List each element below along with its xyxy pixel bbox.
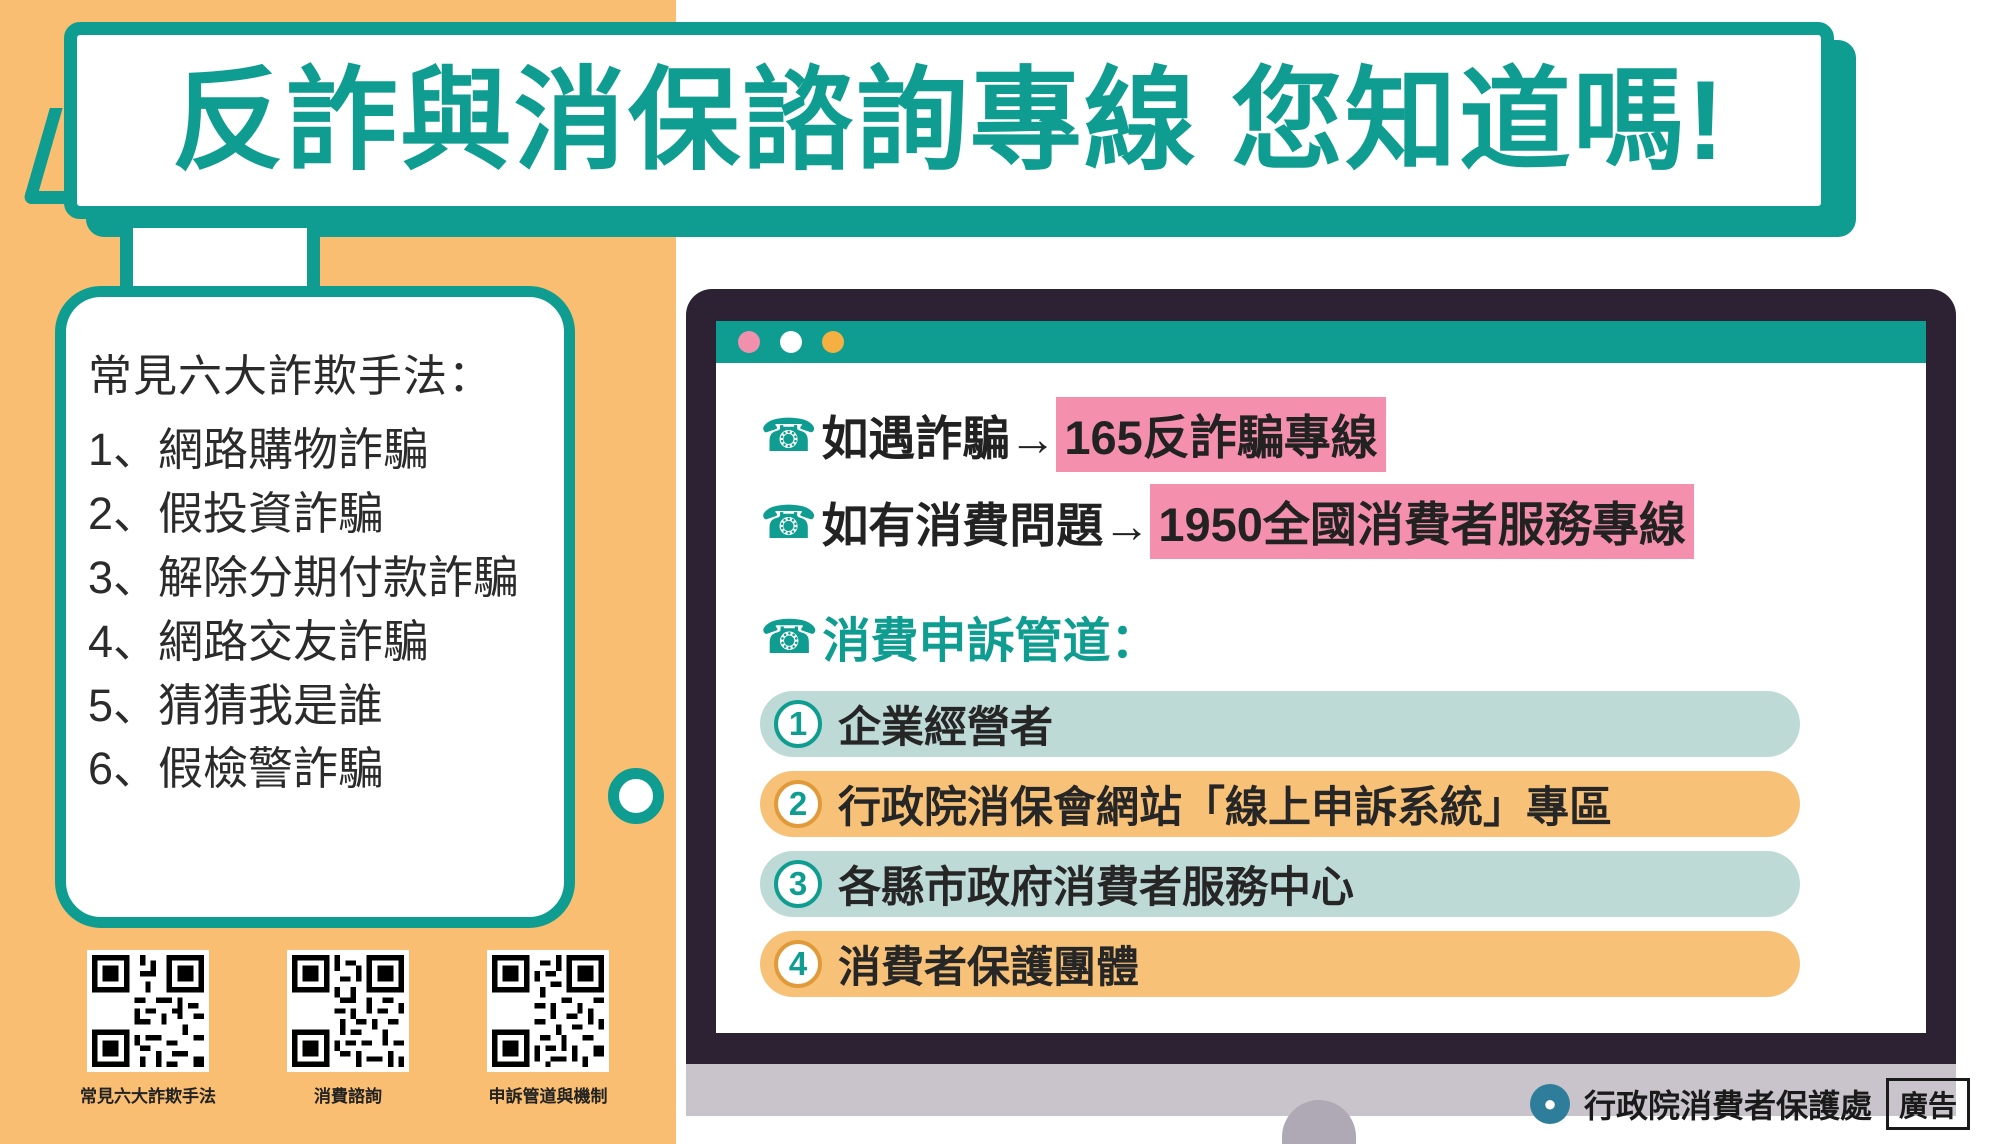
left-card-notch-inner <box>133 228 307 288</box>
fraud-methods-heading: 常見六大詐欺手法： <box>88 340 544 404</box>
browser-content: ☎ 如遇詐騙→ 165反詐騙專線 ☎ 如有消費問題→ 1950全國消費者服務專線… <box>716 363 1926 1033</box>
hotline-label-2: 如有消費問題→ <box>821 487 1150 556</box>
title-banner: 反詐與消保諮詢專線 您知道嗎! <box>64 22 1834 219</box>
fraud-method-item-3: 3、解除分期付款詐騙 <box>88 546 544 610</box>
qr-code-icon-3[interactable] <box>487 950 609 1072</box>
channel-number-3: 3 <box>774 860 822 908</box>
page-title: 反詐與消保諮詢專線 您知道嗎! <box>172 65 1726 177</box>
telephone-icon: ☎ <box>760 499 817 545</box>
fraud-method-item-2: 2、假投資詐騙 <box>88 482 544 546</box>
fraud-method-item-6: 6、假檢警詐騙 <box>88 737 544 801</box>
fraud-method-item-4: 4、網路交友詐騙 <box>88 610 544 674</box>
telephone-icon: ☎ <box>760 412 817 458</box>
footer: ● 行政院消費者保護處 廣告 <box>1530 1078 1970 1130</box>
qr-code-caption-1: 常見六大詐欺手法 <box>78 1082 218 1107</box>
agency-logo-icon: ● <box>1530 1084 1570 1124</box>
footer-ad-badge: 廣告 <box>1886 1078 1970 1130</box>
telephone-icon: ☎ <box>760 613 819 660</box>
channel-number-4: 4 <box>774 940 822 988</box>
qr-code-icon-1[interactable] <box>87 950 209 1072</box>
fraud-method-item-5: 5、猜猜我是誰 <box>88 674 544 738</box>
channel-row-3[interactable]: 3 各縣市政府消費者服務中心 <box>760 851 1800 917</box>
channel-label-2: 行政院消保會網站「線上申訴系統」專區 <box>838 773 1612 835</box>
channel-number-2: 2 <box>774 780 822 828</box>
connector-circle-large-icon <box>608 768 664 824</box>
hotline-row-1: ☎ 如遇詐騙→ 165反詐騙專線 <box>760 397 1886 472</box>
qr-code-block-2[interactable]: 消費諮詢 <box>278 950 418 1120</box>
channel-label-1: 企業經營者 <box>838 693 1053 755</box>
qr-code-block-3[interactable]: 申訴管道與機制 <box>478 950 618 1120</box>
browser-title-bar <box>716 321 1926 363</box>
qr-code-row: 常見六大詐欺手法 <box>78 950 678 1120</box>
channel-row-4[interactable]: 4 消費者保護團體 <box>760 931 1800 997</box>
channels-heading: ☎ 消費申訴管道： <box>760 601 1886 671</box>
footer-agency-name: 行政院消費者保護處 <box>1584 1081 1872 1127</box>
qr-code-caption-2: 消費諮詢 <box>278 1082 418 1107</box>
hotline-highlight-2: 1950全國消費者服務專線 <box>1150 484 1694 559</box>
channel-label-3: 各縣市政府消費者服務中心 <box>838 853 1354 915</box>
browser-minimize-dot-icon[interactable] <box>780 331 802 353</box>
browser-close-dot-icon[interactable] <box>738 331 760 353</box>
hotline-row-2: ☎ 如有消費問題→ 1950全國消費者服務專線 <box>760 484 1886 559</box>
channel-row-1[interactable]: 1 企業經營者 <box>760 691 1800 757</box>
channel-row-2[interactable]: 2 行政院消保會網站「線上申訴系統」專區 <box>760 771 1800 837</box>
fraud-methods-content: 常見六大詐欺手法： 1、網路購物詐騙 2、假投資詐騙 3、解除分期付款詐騙 4、… <box>74 330 544 890</box>
qr-code-block-1[interactable]: 常見六大詐欺手法 <box>78 950 218 1120</box>
qr-code-caption-3: 申訴管道與機制 <box>478 1082 618 1107</box>
hotline-highlight-1: 165反詐騙專線 <box>1056 397 1385 472</box>
browser-maximize-dot-icon[interactable] <box>822 331 844 353</box>
hotline-label-1: 如遇詐騙→ <box>821 400 1056 469</box>
poster-root: 反詐與消保諮詢專線 您知道嗎! 常見六大詐欺手法： 1、網路購物詐騙 2、假投資… <box>0 0 2000 1144</box>
channels-heading-text: 消費申訴管道： <box>823 601 1159 671</box>
channel-label-4: 消費者保護團體 <box>838 933 1139 995</box>
fraud-method-item-1: 1、網路購物詐騙 <box>88 418 544 482</box>
qr-code-icon-2[interactable] <box>287 950 409 1072</box>
channel-number-1: 1 <box>774 700 822 748</box>
